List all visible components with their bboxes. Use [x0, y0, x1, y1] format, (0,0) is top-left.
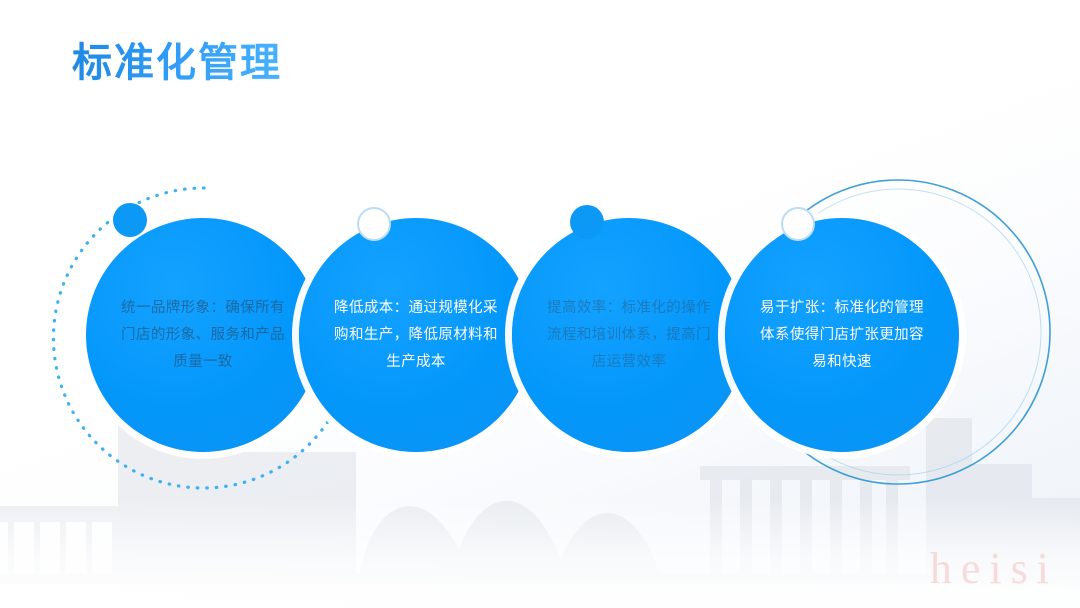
bubble-unified-brand-image[interactable]: 统一品牌形象：确保所有门店的形象、服务和产品质量一致: [86, 218, 320, 452]
bubble-row: 统一品牌形象：确保所有门店的形象、服务和产品质量一致 降低成本：通过规模化采购和…: [0, 0, 1080, 608]
bubble-improve-efficiency[interactable]: 提高效率：标准化的操作流程和培训体系，提高门店运营效率: [512, 218, 746, 452]
bubble-marker-icon-3: [570, 205, 604, 239]
slide-canvas: 标准化管理 统一品牌形象：确保所有门店的形象、服务和产品质量一致 降低成本：通过…: [0, 0, 1080, 608]
bubble-marker-icon-4: [781, 207, 815, 241]
bubble-reduce-cost[interactable]: 降低成本：通过规模化采购和生产，降低原材料和生产成本: [299, 218, 533, 452]
bubble-text: 降低成本：通过规模化采购和生产，降低原材料和生产成本: [328, 295, 504, 376]
bubble-text: 提高效率：标准化的操作流程和培训体系，提高门店运营效率: [541, 295, 717, 376]
bubble-marker-icon-2: [357, 207, 391, 241]
bubble-marker-icon-1: [113, 203, 147, 237]
bubble-text: 易于扩张：标准化的管理体系使得门店扩张更加容易和快速: [754, 295, 930, 376]
bubble-text: 统一品牌形象：确保所有门店的形象、服务和产品质量一致: [115, 295, 291, 376]
watermark: heisi: [930, 543, 1058, 594]
bubble-easy-expansion[interactable]: 易于扩张：标准化的管理体系使得门店扩张更加容易和快速: [725, 218, 959, 452]
